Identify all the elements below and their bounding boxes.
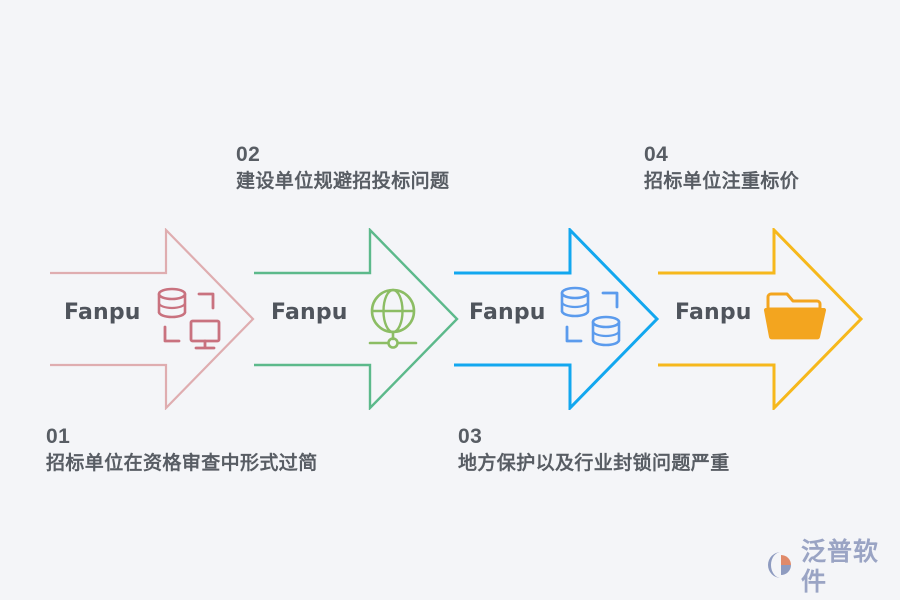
caption-01: 01 招标单位在资格审查中形式过简	[46, 424, 318, 477]
caption-03-number: 03	[458, 424, 730, 450]
fanpu-swoosh-logo-icon	[766, 550, 796, 585]
globe-network-icon	[358, 283, 428, 353]
caption-03-text: 地方保护以及行业封锁问题严重	[458, 450, 730, 477]
dual-database-scan-icon	[558, 283, 628, 353]
open-folder-icon	[762, 283, 832, 353]
caption-02: 02 建设单位规避招投标问题	[236, 142, 449, 195]
caption-02-number: 02	[236, 142, 449, 168]
caption-03: 03 地方保护以及行业封锁问题严重	[458, 424, 730, 477]
watermark-brand-row: 泛普软件	[766, 537, 894, 597]
step-2-label: Fanpu	[271, 300, 348, 325]
watermark: 泛普软件 www.fanpusoft.com	[766, 537, 894, 593]
diagram-canvas: Fanpu Fanpu	[0, 0, 900, 600]
caption-01-number: 01	[46, 424, 318, 450]
step-3-label: Fanpu	[469, 300, 546, 325]
caption-04: 04 招标单位注重标价	[644, 142, 799, 195]
database-monitor-scan-icon	[155, 283, 225, 353]
caption-01-text: 招标单位在资格审查中形式过简	[46, 450, 318, 477]
caption-02-text: 建设单位规避招投标问题	[236, 168, 449, 195]
caption-04-text: 招标单位注重标价	[644, 168, 799, 195]
step-1-label: Fanpu	[64, 300, 141, 325]
caption-04-number: 04	[644, 142, 799, 168]
step-4-label: Fanpu	[675, 300, 752, 325]
watermark-brand-name: 泛普软件	[801, 537, 894, 597]
